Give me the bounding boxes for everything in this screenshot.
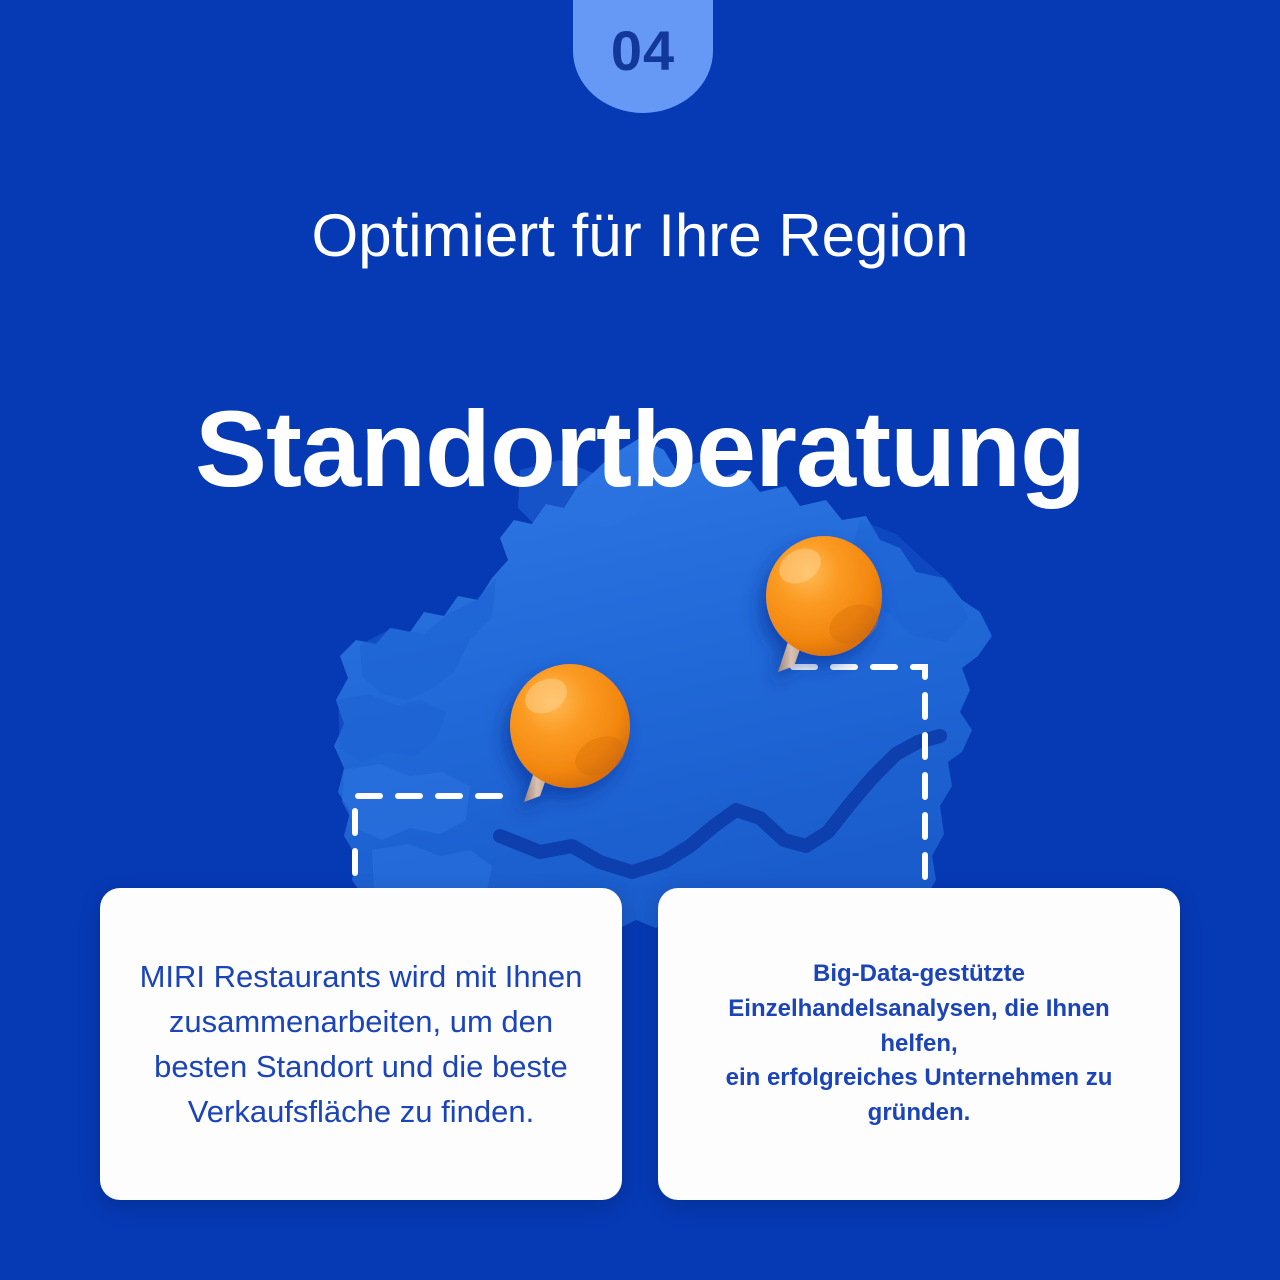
step-badge-number: 04 <box>611 23 675 79</box>
slide-root: 04 Optimiert für Ihre Region Standortber… <box>0 0 1280 1280</box>
info-card-row: MIRI Restaurants wird mit Ihnen zusammen… <box>100 888 1180 1200</box>
location-pin-1[interactable] <box>478 648 658 838</box>
page-title: Standortberatung <box>0 392 1280 505</box>
location-pin-2[interactable] <box>732 518 912 708</box>
info-card-location[interactable]: MIRI Restaurants wird mit Ihnen zusammen… <box>100 888 622 1200</box>
eyebrow-text: Optimiert für Ihre Region <box>0 206 1280 266</box>
map-pin-icon <box>732 518 912 708</box>
info-card-analytics[interactable]: Big-Data-gestützte Einzelhandelsanalysen… <box>658 888 1180 1200</box>
info-card-analytics-text: Big-Data-gestützte Einzelhandelsanalysen… <box>726 957 1113 1131</box>
info-card-location-text: MIRI Restaurants wird mit Ihnen zusammen… <box>140 954 583 1135</box>
map-pin-icon <box>478 648 658 838</box>
